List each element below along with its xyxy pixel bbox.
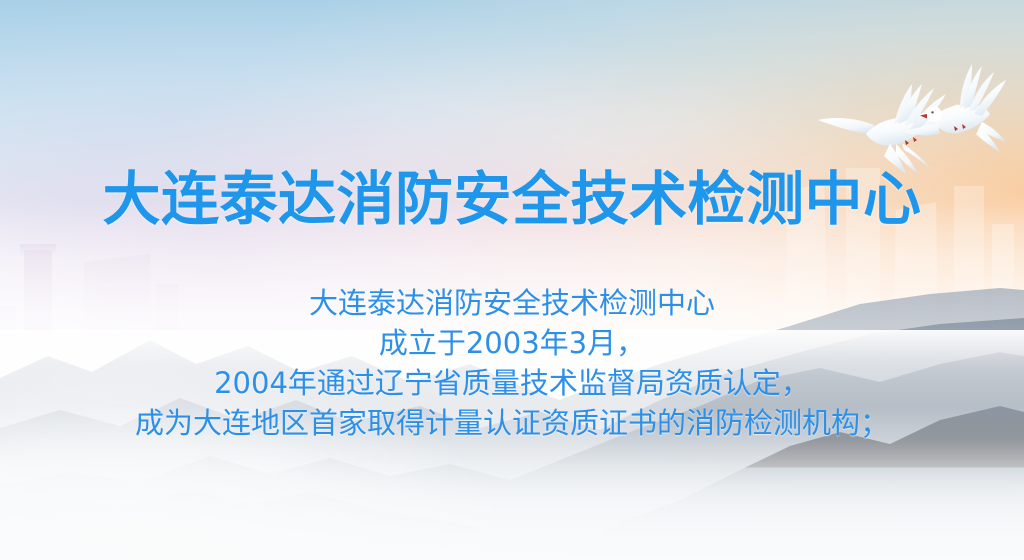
dove-left-foot-icon — [905, 140, 909, 145]
dove-group — [812, 52, 1024, 180]
body-text-block: 大连泰达消防安全技术检测中心 成立于2003年3月， 2004年通过辽宁省质量技… — [0, 283, 1024, 443]
body-line-1: 大连泰达消防安全技术检测中心 — [0, 283, 1024, 323]
body-line-4: 成为大连地区首家取得计量认证资质证书的消防检测机构； — [0, 403, 1024, 443]
body-line-3: 2004年通过辽宁省质量技术监督局资质认定， — [0, 363, 1024, 403]
slide-root: 大连泰达消防安全技术检测中心 大连泰达消防安全技术检测中心 成立于2003年3月… — [0, 0, 1024, 560]
body-line-2: 成立于2003年3月， — [0, 323, 1024, 363]
bottom-mist-overlay — [0, 440, 1024, 560]
page-title: 大连泰达消防安全技术检测中心 — [0, 168, 1024, 230]
doves-icon — [812, 52, 1024, 180]
